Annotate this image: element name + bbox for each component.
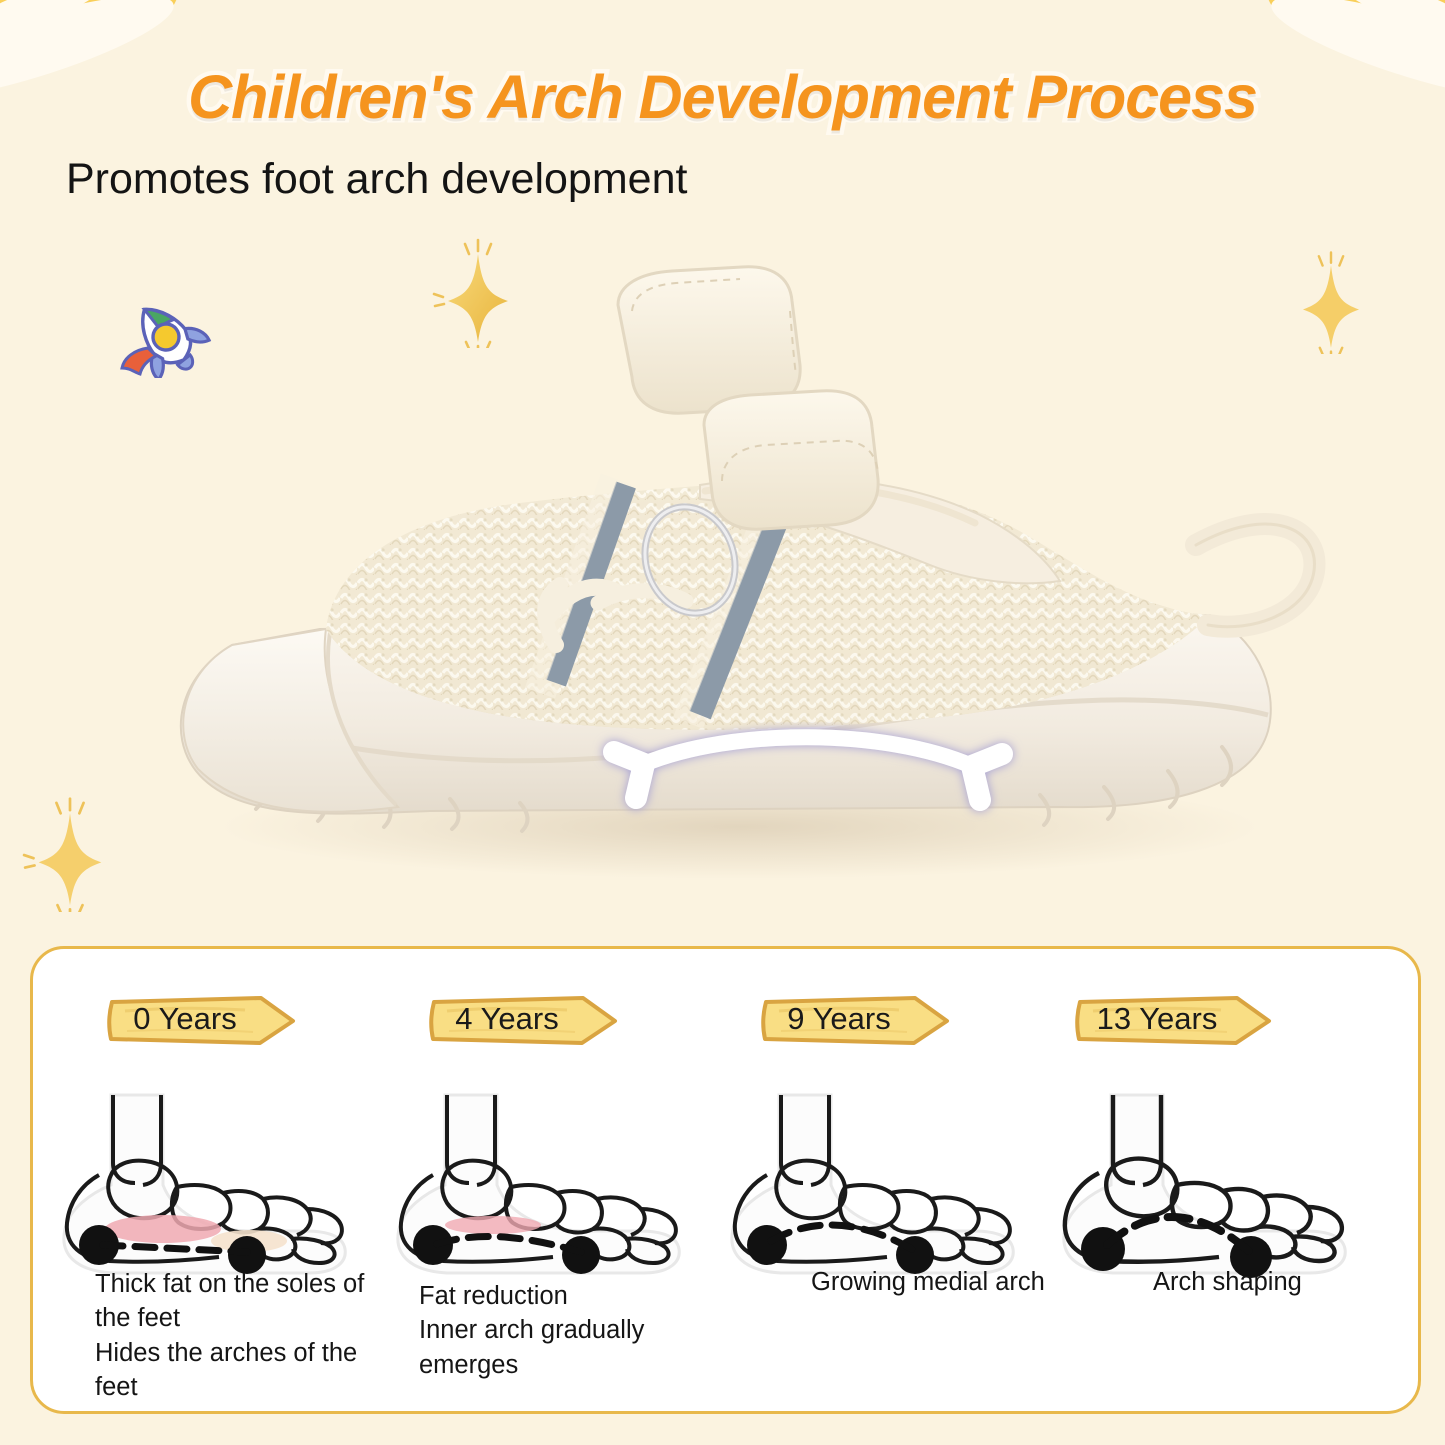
- stage-caption: Fat reduction Inner arch gradually emerg…: [419, 1279, 731, 1382]
- stage-4-years: 4 Years: [385, 949, 731, 1411]
- foot-skeleton-9-years: [719, 1089, 1065, 1289]
- age-tag-13-years: 13 Years: [1073, 993, 1273, 1045]
- foot-skeleton-0-years: [51, 1089, 397, 1289]
- corner-blob: [1265, 0, 1445, 58]
- stage-caption: Growing medial arch: [811, 1265, 1045, 1299]
- stage-9-years: 9 Years: [719, 949, 1065, 1411]
- corner-blob: [0, 0, 180, 58]
- age-tag-label: 13 Years: [1073, 993, 1241, 1045]
- page-title: Children's Arch Development Process: [0, 62, 1445, 132]
- age-tag-4-years: 4 Years: [427, 993, 619, 1045]
- page-subtitle: Promotes foot arch development: [66, 155, 687, 204]
- corner-swoosh-small: [1334, 0, 1445, 49]
- stage-caption: Arch shaping: [1153, 1265, 1302, 1299]
- stage-0-years: 0 Years: [51, 949, 397, 1411]
- age-tag-label: 4 Years: [427, 993, 587, 1045]
- arch-support-arrow: [592, 722, 1024, 827]
- stage-13-years: 13 Years: [1051, 949, 1397, 1411]
- arch-development-panel: 0 Years: [30, 946, 1421, 1414]
- foot-skeleton-13-years: [1051, 1089, 1397, 1289]
- age-tag-label: 0 Years: [105, 993, 265, 1045]
- foot-skeleton-4-years: [385, 1089, 731, 1289]
- corner-swoosh-small: [0, 0, 111, 49]
- stage-caption: Thick fat on the soles of the feet Hides…: [95, 1267, 397, 1405]
- age-tag-0-years: 0 Years: [105, 993, 297, 1045]
- age-tag-9-years: 9 Years: [759, 993, 951, 1045]
- age-tag-label: 9 Years: [759, 993, 919, 1045]
